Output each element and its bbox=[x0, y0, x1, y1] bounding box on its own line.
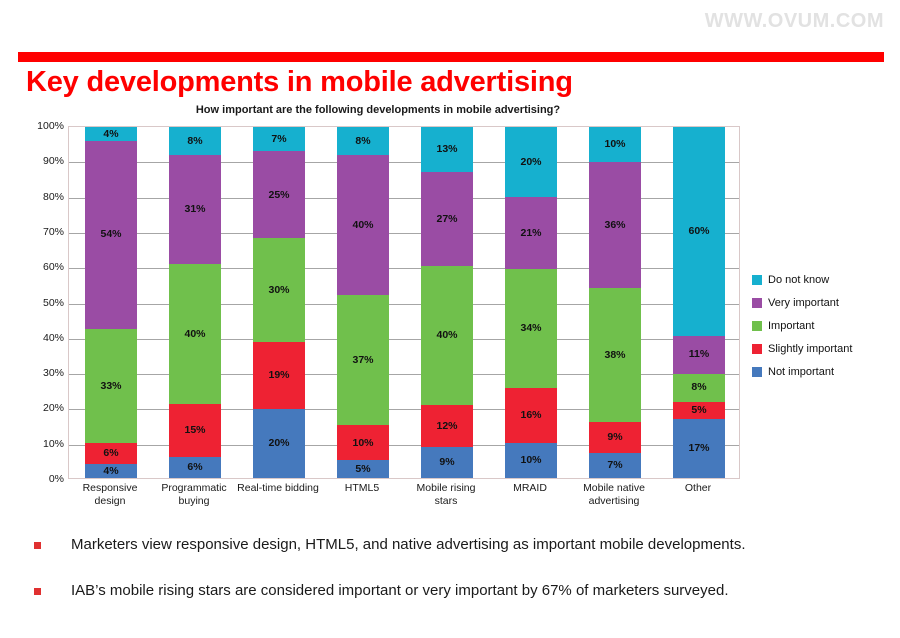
x-axis-tick-label-line: HTML5 bbox=[320, 482, 404, 495]
bullet-square-icon bbox=[34, 542, 41, 549]
bar-segment[interactable]: 27% bbox=[421, 172, 473, 266]
bar-segment[interactable]: 20% bbox=[253, 409, 305, 479]
x-axis-tick-label-line: Real-time bidding bbox=[236, 482, 320, 495]
bar-segment-value-label: 6% bbox=[103, 448, 118, 459]
x-axis-tick-label-line: Mobile native bbox=[572, 482, 656, 495]
takeaways-list: Marketers view responsive design, HTML5,… bbox=[34, 535, 884, 628]
bar-segment[interactable]: 9% bbox=[589, 422, 641, 454]
x-axis-tick-label-line: design bbox=[68, 495, 152, 508]
bar-segment-value-label: 34% bbox=[520, 323, 541, 334]
bar-segment-value-label: 9% bbox=[607, 432, 622, 443]
legend-swatch-icon bbox=[752, 298, 762, 308]
bar-segment[interactable]: 40% bbox=[337, 155, 389, 295]
bar-segment[interactable]: 8% bbox=[169, 127, 221, 155]
x-axis: ResponsivedesignProgrammaticbuyingReal-t… bbox=[68, 482, 740, 522]
x-axis-tick-label: Programmaticbuying bbox=[152, 482, 236, 508]
y-axis-tick-label: 10% bbox=[28, 438, 64, 450]
bar-segment[interactable]: 8% bbox=[673, 374, 725, 402]
y-axis-tick-label: 60% bbox=[28, 261, 64, 273]
bar-column[interactable]: 8%40%37%10%5% bbox=[337, 127, 389, 478]
page-title: Key developments in mobile advertising bbox=[26, 66, 573, 99]
legend-item-label: Do not know bbox=[768, 274, 829, 286]
bar-segment[interactable]: 4% bbox=[85, 464, 137, 478]
bar-segment[interactable]: 11% bbox=[673, 336, 725, 374]
bar-segment-value-label: 36% bbox=[604, 220, 625, 231]
bar-segment-value-label: 8% bbox=[187, 136, 202, 147]
bar-segment[interactable]: 34% bbox=[505, 269, 557, 387]
bar-segment-value-label: 20% bbox=[520, 157, 541, 168]
bar-stack: 8%40%37%10%5% bbox=[337, 127, 389, 478]
legend-item[interactable]: Important bbox=[752, 314, 892, 337]
bar-segment-value-label: 33% bbox=[100, 381, 121, 392]
bar-segment-value-label: 40% bbox=[352, 220, 373, 231]
legend-swatch-icon bbox=[752, 367, 762, 377]
bar-stack: 7%25%30%19%20% bbox=[253, 127, 305, 478]
bar-segment[interactable]: 60% bbox=[673, 127, 725, 336]
bar-segment-value-label: 13% bbox=[436, 144, 457, 155]
bar-stack: 10%36%38%9%7% bbox=[589, 127, 641, 478]
bar-segment[interactable]: 12% bbox=[421, 405, 473, 447]
x-axis-tick-label-line: stars bbox=[404, 495, 488, 508]
bar-segment-value-label: 21% bbox=[520, 228, 541, 239]
bar-segment-value-label: 11% bbox=[689, 349, 709, 360]
bar-stack: 8%31%40%15%6% bbox=[169, 127, 221, 478]
x-axis-tick-label-line: Mobile rising bbox=[404, 482, 488, 495]
bar-segment[interactable]: 10% bbox=[505, 443, 557, 478]
bar-column[interactable]: 13%27%40%12%9% bbox=[421, 127, 473, 478]
bar-segment-value-label: 17% bbox=[688, 443, 709, 454]
bar-segment[interactable]: 17% bbox=[673, 419, 725, 478]
bar-segment[interactable]: 4% bbox=[85, 127, 137, 141]
x-axis-tick-label-line: MRAID bbox=[488, 482, 572, 495]
bar-segment-value-label: 10% bbox=[520, 455, 541, 466]
bar-segment[interactable]: 6% bbox=[85, 443, 137, 464]
bar-segment[interactable]: 13% bbox=[421, 127, 473, 172]
bar-segment[interactable]: 8% bbox=[337, 127, 389, 155]
x-axis-tick-label-line: Other bbox=[656, 482, 740, 495]
legend-item-label: Important bbox=[768, 320, 814, 332]
bar-segment-value-label: 10% bbox=[604, 139, 625, 150]
bar-segment-value-label: 38% bbox=[604, 350, 625, 361]
y-axis-tick-label: 80% bbox=[28, 191, 64, 203]
bar-segment[interactable]: 40% bbox=[169, 264, 221, 404]
y-axis-tick-label: 90% bbox=[28, 155, 64, 167]
x-axis-tick-label: HTML5 bbox=[320, 482, 404, 495]
bar-segment-value-label: 12% bbox=[436, 421, 457, 432]
bar-segment[interactable]: 54% bbox=[85, 141, 137, 329]
bar-segment[interactable]: 16% bbox=[505, 388, 557, 444]
bar-segment-value-label: 5% bbox=[355, 464, 370, 475]
bar-segment-value-label: 8% bbox=[355, 136, 370, 147]
bar-column[interactable]: 10%36%38%9%7% bbox=[589, 127, 641, 478]
legend-item-label: Slightly important bbox=[768, 343, 852, 355]
bar-column[interactable]: 4%54%33%6%4% bbox=[85, 127, 137, 478]
bar-column[interactable]: 7%25%30%19%20% bbox=[253, 127, 305, 478]
plot-area: 4%54%33%6%4%8%31%40%15%6%7%25%30%19%20%8… bbox=[68, 126, 740, 479]
legend-swatch-icon bbox=[752, 321, 762, 331]
bar-segment[interactable]: 20% bbox=[505, 127, 557, 197]
legend-item[interactable]: Very important bbox=[752, 291, 892, 314]
takeaway-text: Marketers view responsive design, HTML5,… bbox=[71, 535, 746, 555]
bar-segment-value-label: 19% bbox=[268, 370, 289, 381]
legend-item[interactable]: Slightly important bbox=[752, 337, 892, 360]
bar-segment-value-label: 25% bbox=[268, 190, 289, 201]
legend-item-label: Very important bbox=[768, 297, 839, 309]
bar-segment-value-label: 9% bbox=[439, 457, 454, 468]
y-axis-tick-label: 50% bbox=[28, 297, 64, 309]
bar-segment-value-label: 4% bbox=[103, 466, 118, 477]
bar-segment-value-label: 40% bbox=[436, 330, 457, 341]
bar-stack: 60%11%8%5%17% bbox=[673, 127, 725, 478]
bar-segment[interactable]: 6% bbox=[169, 457, 221, 478]
bar-segment[interactable]: 33% bbox=[85, 329, 137, 444]
bar-segment[interactable]: 38% bbox=[589, 288, 641, 421]
bar-segment[interactable]: 9% bbox=[421, 447, 473, 478]
bar-segment-value-label: 7% bbox=[271, 134, 286, 145]
x-axis-tick-label: Mobile nativeadvertising bbox=[572, 482, 656, 508]
legend-swatch-icon bbox=[752, 275, 762, 285]
bar-segment-value-label: 10% bbox=[352, 438, 373, 449]
takeaway-item: Marketers view responsive design, HTML5,… bbox=[34, 535, 884, 555]
bar-segment[interactable]: 37% bbox=[337, 295, 389, 425]
bar-segment[interactable]: 7% bbox=[253, 127, 305, 151]
x-axis-tick-label: Mobile risingstars bbox=[404, 482, 488, 508]
y-axis-tick-label: 70% bbox=[28, 226, 64, 238]
bar-stack: 13%27%40%12%9% bbox=[421, 127, 473, 478]
x-axis-tick-label-line: buying bbox=[152, 495, 236, 508]
y-axis-tick-label: 100% bbox=[28, 120, 64, 132]
bar-segment[interactable]: 10% bbox=[337, 425, 389, 460]
bar-segment[interactable]: 5% bbox=[673, 402, 725, 419]
bar-segment[interactable]: 5% bbox=[337, 460, 389, 478]
bar-segment-value-label: 31% bbox=[184, 204, 205, 215]
legend-item[interactable]: Do not know bbox=[752, 268, 892, 291]
takeaway-item: IAB’s mobile rising stars are considered… bbox=[34, 581, 884, 601]
chart-title: How important are the following developm… bbox=[138, 104, 618, 116]
bar-segment-value-label: 8% bbox=[691, 382, 706, 393]
bar-segment-value-label: 30% bbox=[268, 285, 289, 296]
y-axis-tick-label: 0% bbox=[28, 473, 64, 485]
x-axis-tick-label: Real-time bidding bbox=[236, 482, 320, 495]
x-axis-tick-label: Responsivedesign bbox=[68, 482, 152, 508]
bar-segment-value-label: 37% bbox=[352, 355, 373, 366]
bar-segment-value-label: 15% bbox=[184, 425, 205, 436]
bar-segment[interactable]: 30% bbox=[253, 238, 305, 342]
bar-segment-value-label: 60% bbox=[688, 226, 709, 237]
bar-segment[interactable]: 19% bbox=[253, 342, 305, 408]
x-axis-tick-label: Other bbox=[656, 482, 740, 495]
bar-segment[interactable]: 31% bbox=[169, 155, 221, 264]
bar-column[interactable]: 8%31%40%15%6% bbox=[169, 127, 221, 478]
bar-segment-value-label: 20% bbox=[268, 438, 289, 449]
legend-item-label: Not important bbox=[768, 366, 834, 378]
bar-segment-value-label: 4% bbox=[103, 129, 118, 140]
x-axis-tick-label-line: Programmatic bbox=[152, 482, 236, 495]
bar-segment-value-label: 27% bbox=[436, 214, 457, 225]
legend-item[interactable]: Not important bbox=[752, 360, 892, 383]
bar-stack: 4%54%33%6%4% bbox=[85, 127, 137, 478]
bar-stack: 20%21%34%16%10% bbox=[505, 127, 557, 478]
chart-legend: Do not knowVery importantImportantSlight… bbox=[752, 268, 892, 383]
bar-segment-value-label: 6% bbox=[187, 462, 202, 473]
bar-column[interactable]: 60%11%8%5%17% bbox=[673, 127, 725, 478]
bar-segment[interactable]: 25% bbox=[253, 151, 305, 238]
bar-segment[interactable]: 40% bbox=[421, 266, 473, 405]
x-axis-tick-label: MRAID bbox=[488, 482, 572, 495]
bar-segment[interactable]: 15% bbox=[169, 404, 221, 457]
y-axis-tick-label: 30% bbox=[28, 367, 64, 379]
bar-segment-value-label: 16% bbox=[520, 410, 541, 421]
bar-segment-value-label: 54% bbox=[100, 229, 121, 240]
x-axis-tick-label-line: advertising bbox=[572, 495, 656, 508]
bar-segment[interactable]: 7% bbox=[589, 453, 641, 478]
bar-segment-value-label: 5% bbox=[691, 405, 706, 416]
bar-segment-value-label: 40% bbox=[184, 329, 205, 340]
title-divider-rule bbox=[18, 52, 884, 62]
x-axis-tick-label-line: Responsive bbox=[68, 482, 152, 495]
site-watermark: WWW.OVUM.COM bbox=[705, 10, 884, 33]
bar-column[interactable]: 20%21%34%16%10% bbox=[505, 127, 557, 478]
y-axis-tick-label: 20% bbox=[28, 402, 64, 414]
bar-segment[interactable]: 21% bbox=[505, 197, 557, 270]
takeaway-text: IAB’s mobile rising stars are considered… bbox=[71, 581, 729, 601]
bar-segment[interactable]: 10% bbox=[589, 127, 641, 162]
chart-container: How important are the following developm… bbox=[28, 104, 744, 522]
y-axis: 0%10%20%30%40%50%60%70%80%90%100% bbox=[28, 126, 64, 479]
legend-swatch-icon bbox=[752, 344, 762, 354]
bullet-square-icon bbox=[34, 588, 41, 595]
y-axis-tick-label: 40% bbox=[28, 332, 64, 344]
bar-segment[interactable]: 36% bbox=[589, 162, 641, 288]
bar-segment-value-label: 7% bbox=[607, 460, 622, 471]
